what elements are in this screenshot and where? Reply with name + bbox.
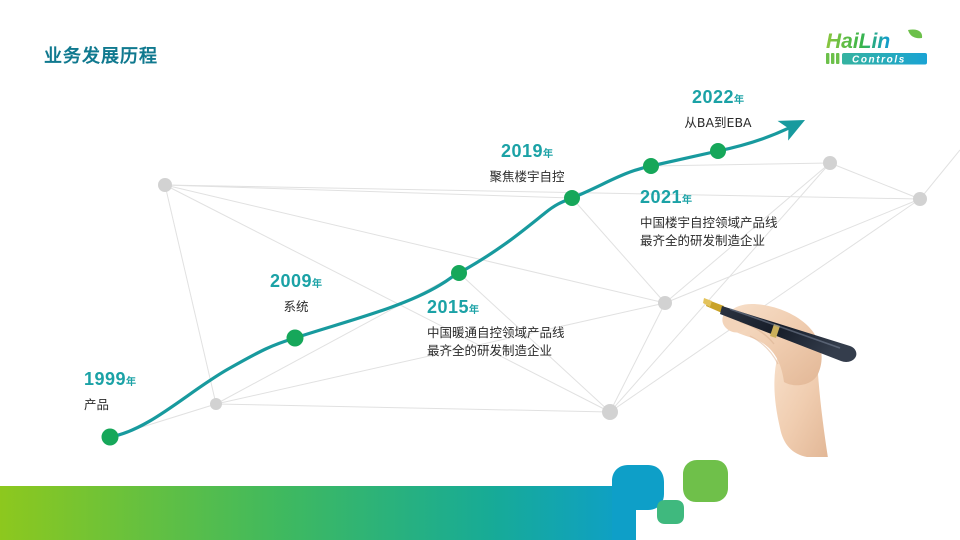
milestone-year-2021: 2021年	[640, 188, 778, 208]
milestone-year-2022: 2022年	[684, 88, 751, 108]
footer-leaf-green-small	[657, 500, 684, 524]
milestone-dot-2022[interactable]	[710, 143, 726, 159]
milestone-desc-2015: 中国暖通自控领域产品线 最齐全的研发制造企业	[427, 324, 565, 360]
footer-leaf-green-large	[683, 460, 728, 502]
milestone-dots	[102, 143, 727, 446]
milestone-dot-2019[interactable]	[564, 190, 580, 206]
footer-leaf-blue	[612, 465, 664, 540]
growth-curve-line	[110, 126, 793, 437]
page-title: 业务发展历程	[44, 42, 158, 68]
footer-decoration	[0, 450, 960, 540]
milestone-desc-2022: 从BA到EBA	[684, 114, 751, 132]
milestone-dot-2021[interactable]	[643, 158, 659, 174]
milestone-dot-1999[interactable]	[102, 429, 119, 446]
milestone-label-2022[interactable]: 2022年 从BA到EBA	[684, 88, 751, 132]
milestone-label-2021[interactable]: 2021年 中国楼宇自控领域产品线 最齐全的研发制造企业	[640, 188, 778, 250]
logo-tagline: Controls	[852, 54, 906, 65]
milestone-desc-2021: 中国楼宇自控领域产品线 最齐全的研发制造企业	[640, 214, 778, 250]
milestone-label-2009[interactable]: 2009年 系统	[270, 272, 322, 316]
footer-bar	[0, 486, 628, 540]
slide-canvas: 业务发展历程 HaiLin Co	[0, 0, 960, 540]
milestone-year-2009: 2009年	[270, 272, 322, 292]
milestone-dot-2015[interactable]	[451, 265, 467, 281]
hand-holding-pen-image	[700, 282, 890, 457]
milestone-label-1999[interactable]: 1999年 产品	[84, 370, 136, 414]
leaf-icon	[908, 29, 922, 38]
milestone-year-1999: 1999年	[84, 370, 136, 390]
milestone-desc-1999: 产品	[84, 396, 136, 414]
milestone-label-2015[interactable]: 2015年 中国暖通自控领域产品线 最齐全的研发制造企业	[427, 298, 565, 360]
milestone-desc-2009: 系统	[270, 298, 322, 316]
milestone-dot-2009[interactable]	[287, 330, 304, 347]
milestone-year-2015: 2015年	[427, 298, 565, 318]
milestone-label-2019[interactable]: 2019年 聚焦楼宇自控	[489, 142, 564, 186]
milestone-year-2019: 2019年	[489, 142, 564, 162]
milestone-desc-2019: 聚焦楼宇自控	[489, 168, 564, 186]
logo-bars	[826, 53, 839, 64]
company-logo: HaiLin Controls	[822, 26, 934, 68]
logo-wordmark: HaiLin	[826, 30, 890, 53]
